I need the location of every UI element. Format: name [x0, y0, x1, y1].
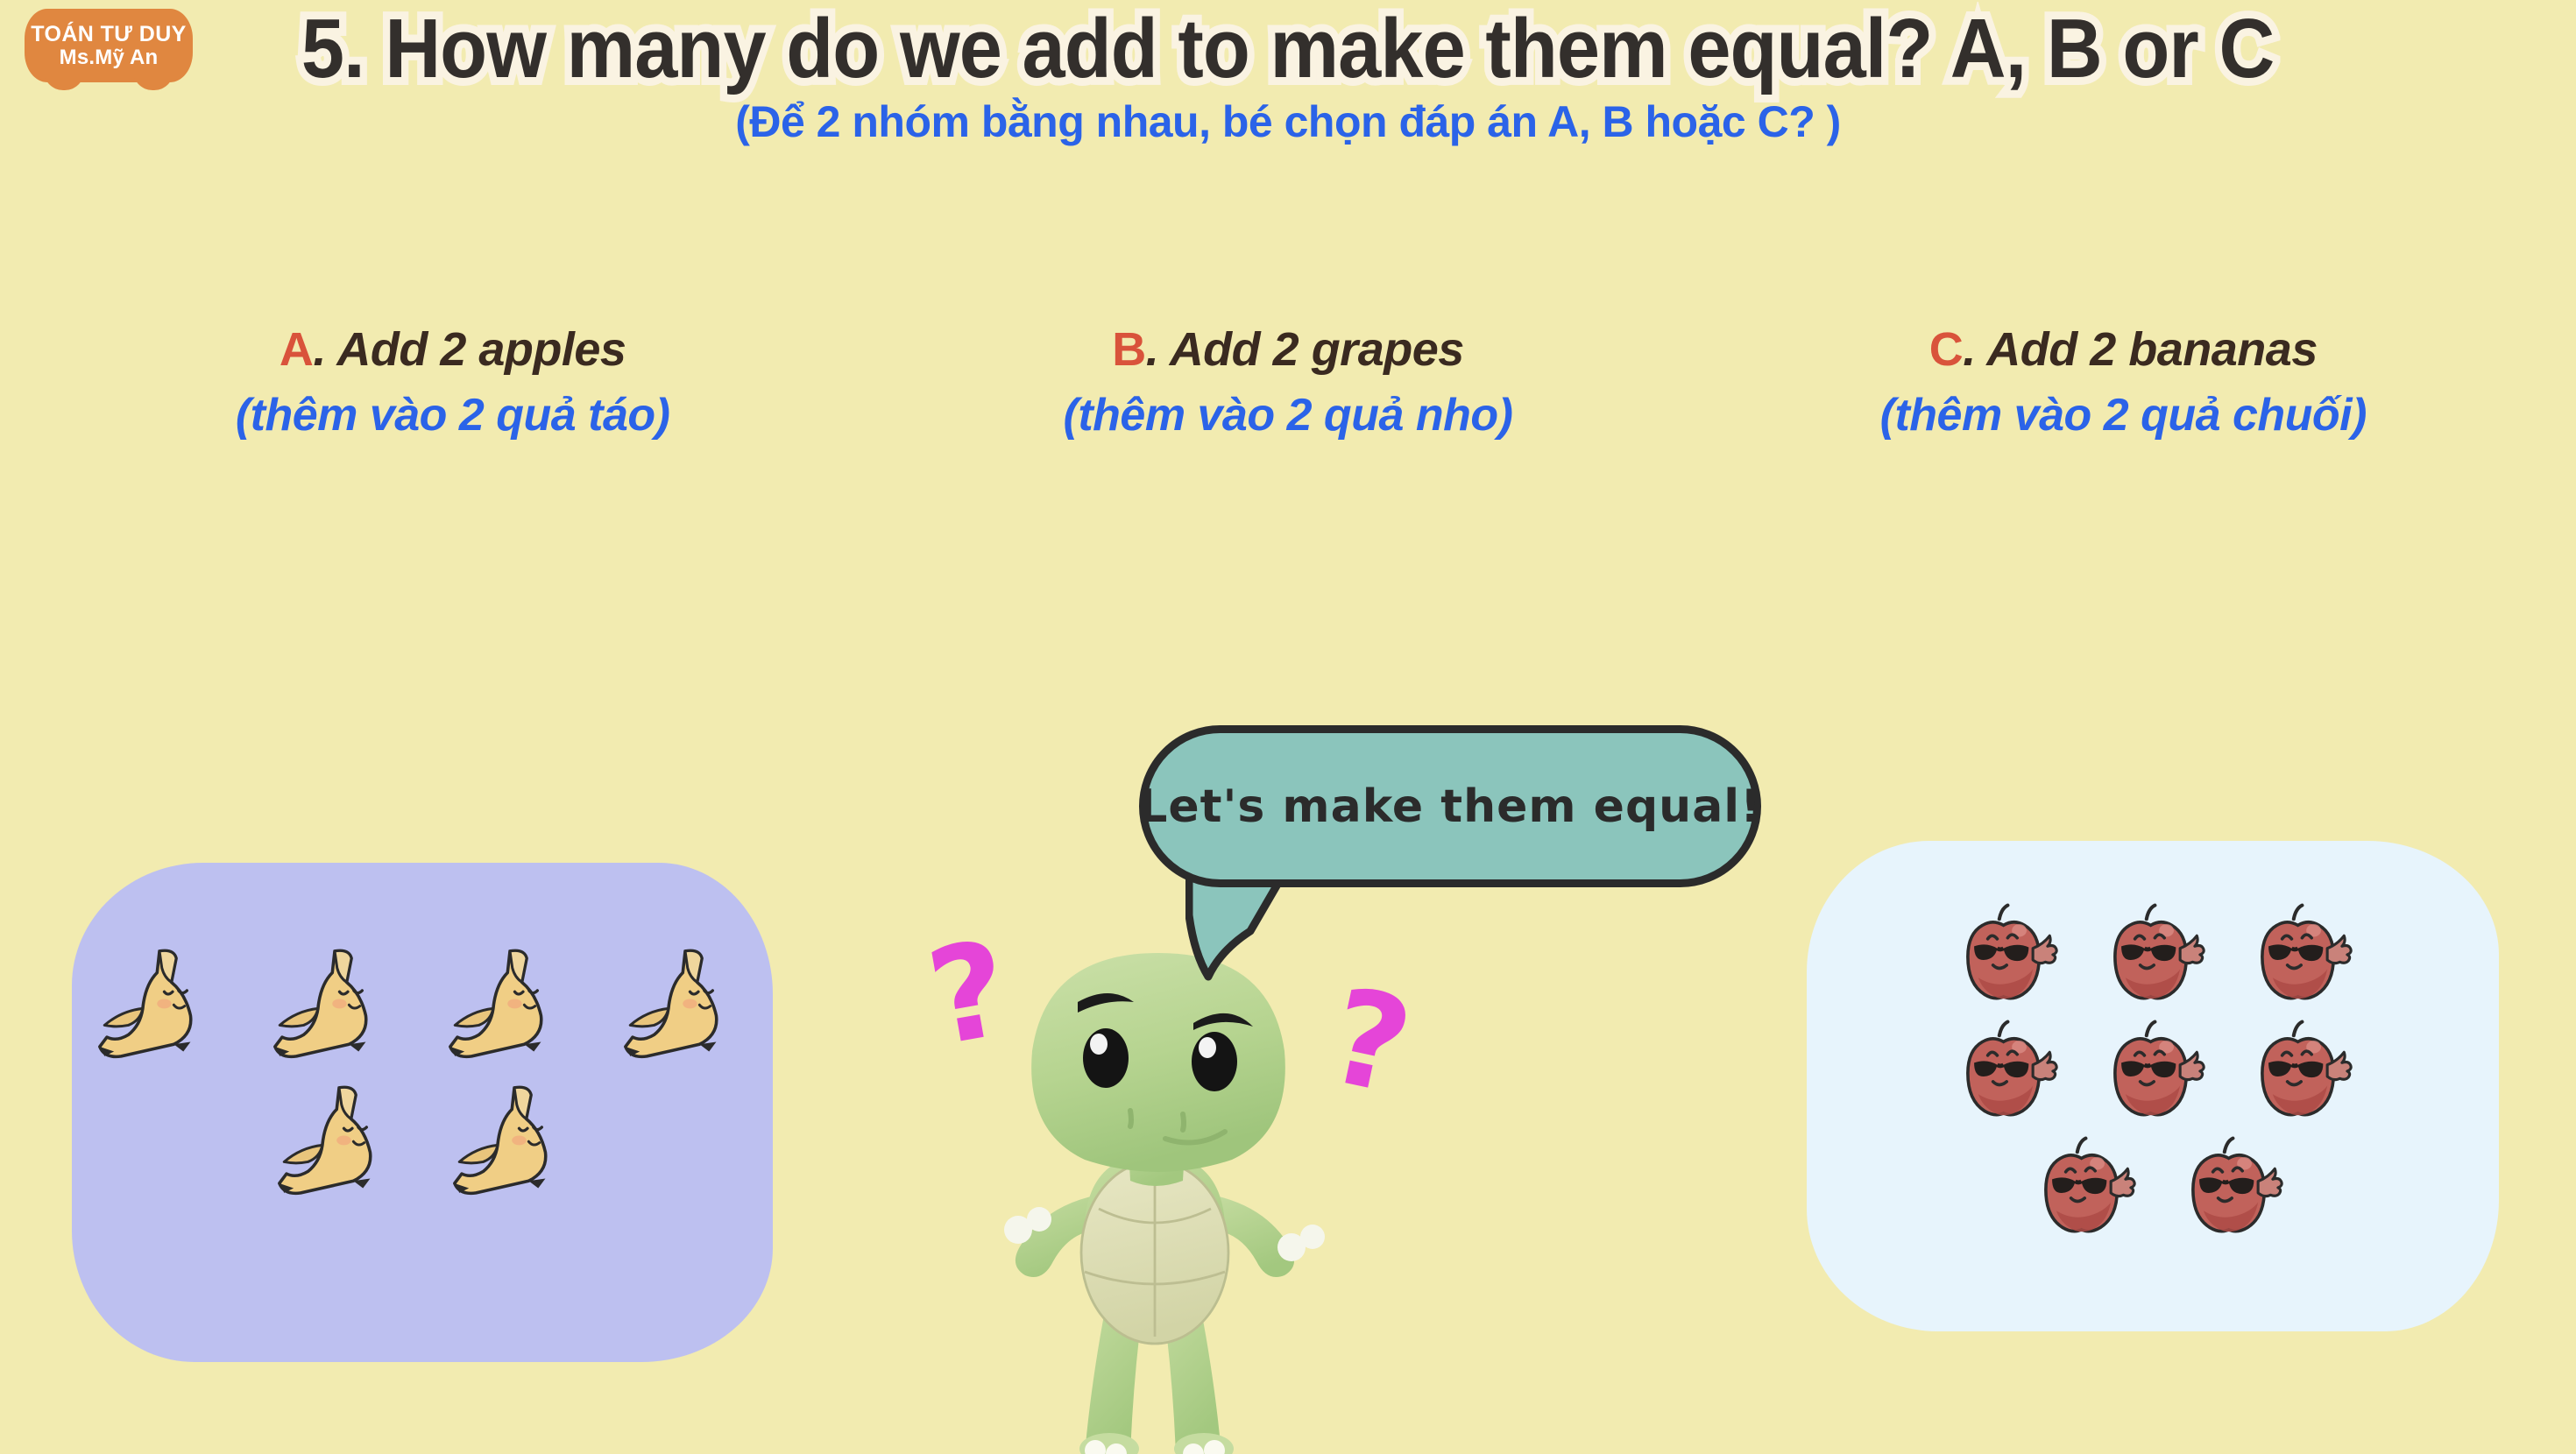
option-b[interactable]: B. Add 2 grapes (thêm vào 2 quả nho)	[912, 322, 1664, 441]
brand-subtitle: Ms.Mỹ An	[60, 46, 159, 68]
option-b-vietnamese: (thêm vào 2 quả nho)	[912, 389, 1664, 441]
apple-row	[1807, 1019, 2499, 1119]
option-a-english: A. Add 2 apples	[77, 322, 829, 377]
banana-icon	[611, 942, 760, 1073]
banana-icon	[260, 942, 409, 1073]
header: 5. How many do we add to make them equal…	[0, 7, 2576, 147]
page-title-outline: 5. How many do we add to make them equal…	[301, 7, 2274, 91]
apple-icon	[2247, 902, 2353, 1003]
apple-row	[1807, 1135, 2499, 1236]
banana-icon	[440, 1078, 589, 1210]
apple-row	[1807, 902, 2499, 1003]
brand-title: TOÁN TƯ DUY	[31, 23, 186, 46]
option-b-letter: B	[1112, 323, 1146, 376]
turtle-mascot	[902, 928, 1428, 1454]
option-c-english: C. Add 2 bananas	[1747, 322, 2499, 377]
apple-icon	[2178, 1135, 2283, 1236]
option-a[interactable]: A. Add 2 apples (thêm vào 2 quả táo)	[77, 322, 829, 441]
speech-bubble-text: Let's make them equal!	[1138, 780, 1762, 833]
brand-badge: TOÁN TƯ DUY Ms.Mỹ An	[25, 9, 193, 82]
banana-grid	[72, 942, 773, 1215]
apple-icon	[2247, 1019, 2353, 1119]
option-b-label: . Add 2 grapes	[1146, 323, 1464, 376]
banana-group-panel	[72, 863, 773, 1362]
banana-row	[72, 942, 773, 1073]
apple-group-panel	[1807, 841, 2499, 1331]
banana-icon	[265, 1078, 414, 1210]
banana-icon	[435, 942, 584, 1073]
page-subtitle: (Để 2 nhóm bằng nhau, bé chọn đáp án A, …	[0, 96, 2576, 147]
option-a-vietnamese: (thêm vào 2 quả táo)	[77, 389, 829, 441]
apple-icon	[1953, 902, 2058, 1003]
option-c-label: . Add 2 bananas	[1963, 323, 2318, 376]
option-c-letter: C	[1929, 323, 1964, 376]
apple-icon	[1953, 1019, 2058, 1119]
answer-options: A. Add 2 apples (thêm vào 2 quả táo) B. …	[0, 322, 2576, 441]
option-a-letter: A	[280, 323, 314, 376]
page-title-text: 5. How many do we add to make them equal…	[301, 7, 2274, 91]
option-b-english: B. Add 2 grapes	[912, 322, 1664, 377]
banana-icon	[85, 942, 234, 1073]
apple-icon	[2100, 1019, 2205, 1119]
apple-icon	[2100, 902, 2205, 1003]
banana-row	[72, 1078, 773, 1210]
apple-icon	[2031, 1135, 2136, 1236]
option-a-label: . Add 2 apples	[313, 323, 626, 376]
option-c[interactable]: C. Add 2 bananas (thêm vào 2 quả chuối)	[1747, 322, 2499, 441]
page-title: 5. How many do we add to make them equal…	[216, 7, 2360, 91]
apple-grid	[1807, 902, 2499, 1252]
option-c-vietnamese: (thêm vào 2 quả chuối)	[1747, 389, 2499, 441]
speech-bubble: Let's make them equal!	[1139, 725, 1761, 887]
